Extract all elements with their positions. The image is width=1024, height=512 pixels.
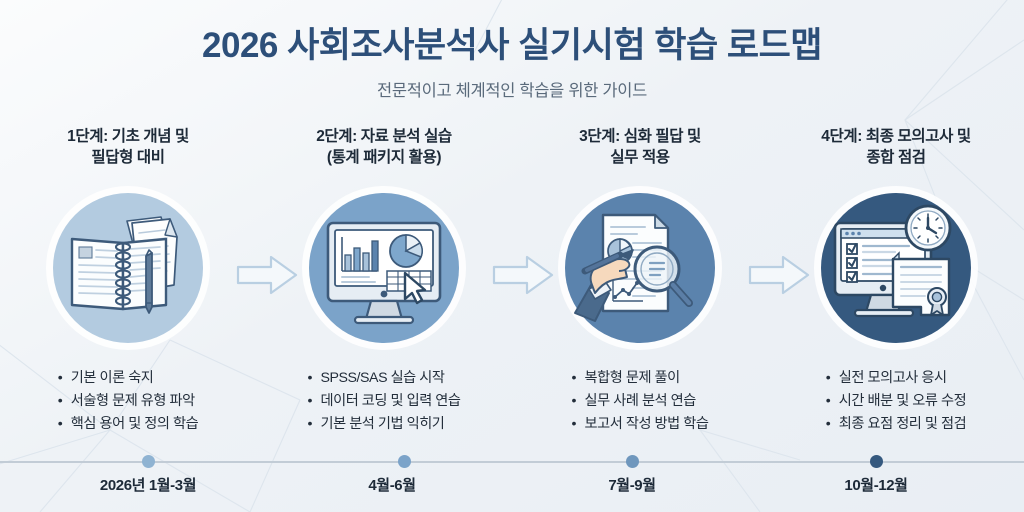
stage-3-bullet-2: 실무 사례 분석 연습 — [572, 390, 709, 413]
timeline-dot-3[interactable] — [626, 455, 639, 468]
monitor-checklist-clock-certificate-icon — [821, 193, 971, 343]
stage-4-bullets: 실전 모의고사 응시 시간 배분 및 오류 수정 최종 요점 정리 및 점검 — [826, 367, 966, 436]
stage-3-bullet-1: 복합형 문제 풀이 — [572, 367, 709, 390]
stage-1-bullet-3: 핵심 용어 및 정의 학습 — [58, 413, 198, 436]
stage-4-title-line2: 종합 점검 — [821, 148, 970, 169]
stage-3-title: 3단계: 심화 필답 및 실무 적용 — [579, 126, 701, 174]
arrow-stage-1-to-2 — [236, 252, 298, 298]
timeline-label-1: 2026년 1월-3월 — [38, 474, 258, 495]
stage-3-icon-circle[interactable] — [565, 193, 715, 343]
roadmap-poster: 2026 사회조사분석사 실기시험 학습 로드맵 전문적이고 체계적인 학습을 … — [0, 0, 1024, 512]
timeline-label-2: 4월-6월 — [282, 474, 502, 495]
stage-1-bullet-1: 기본 이론 숙지 — [58, 367, 198, 390]
stage-2-bullets: SPSS/SAS 실습 시작 데이터 코딩 및 입력 연습 기본 분석 기법 익… — [308, 367, 461, 436]
stage-3-title-line1: 3단계: 심화 필답 및 — [579, 127, 701, 148]
stage-4-icon-circle[interactable] — [821, 193, 971, 343]
timeline-dot-1[interactable] — [142, 455, 155, 468]
monitor-charts-icon — [309, 193, 459, 343]
stage-4-bullet-1: 실전 모의고사 응시 — [826, 367, 966, 390]
arrow-stage-2-to-3 — [492, 252, 554, 298]
timeline-dot-4[interactable] — [870, 455, 883, 468]
stage-3-bullet-3: 보고서 작성 방법 학습 — [572, 413, 709, 436]
hand-document-magnifier-icon — [565, 193, 715, 343]
stage-3-bullets: 복합형 문제 풀이 실무 사례 분석 연습 보고서 작성 방법 학습 — [572, 367, 709, 436]
header: 2026 사회조사분석사 실기시험 학습 로드맵 전문적이고 체계적인 학습을 … — [0, 26, 1024, 101]
stage-1-title: 1단계: 기초 개념 및 필답형 대비 — [67, 126, 189, 174]
stage-1-icon-circle[interactable] — [53, 193, 203, 343]
stage-1-bullet-2: 서술형 문제 유형 파악 — [58, 390, 198, 413]
page-subtitle: 전문적이고 체계적인 학습을 위한 가이드 — [0, 77, 1024, 101]
stage-1-bullets: 기본 이론 숙지 서술형 문제 유형 파악 핵심 용어 및 정의 학습 — [58, 367, 198, 436]
page-title: 2026 사회조사분석사 실기시험 학습 로드맵 — [0, 26, 1024, 66]
stage-1[interactable]: 1단계: 기초 개념 및 필답형 대비 — [0, 126, 256, 456]
timeline-dot-2[interactable] — [398, 455, 411, 468]
stage-4-title: 4단계: 최종 모의고사 및 종합 점검 — [821, 126, 970, 174]
stage-1-title-line2: 필답형 대비 — [67, 148, 189, 169]
stage-4-title-line1: 4단계: 최종 모의고사 및 — [821, 127, 970, 148]
stage-1-title-line1: 1단계: 기초 개념 및 — [67, 127, 189, 148]
arrow-stage-3-to-4 — [748, 252, 810, 298]
stage-2-title-line1: 2단계: 자료 분석 실습 — [316, 127, 452, 148]
stage-2-icon-circle[interactable] — [309, 193, 459, 343]
notebook-pencil-icon — [53, 193, 203, 343]
stage-4-bullet-2: 시간 배분 및 오류 수정 — [826, 390, 966, 413]
timeline-label-3: 7월-9월 — [522, 474, 742, 495]
stage-4-bullet-3: 최종 요점 정리 및 점검 — [826, 413, 966, 436]
stage-2-bullet-3: 기본 분석 기법 익히기 — [308, 413, 461, 436]
stage-2-title: 2단계: 자료 분석 실습 (통계 패키지 활용) — [316, 126, 452, 174]
stage-2-bullet-1: SPSS/SAS 실습 시작 — [308, 367, 461, 390]
stage-2-title-line2: (통계 패키지 활용) — [316, 148, 452, 169]
stage-2-bullet-2: 데이터 코딩 및 입력 연습 — [308, 390, 461, 413]
stage-3-title-line2: 실무 적용 — [579, 148, 701, 169]
timeline-label-4: 10월-12월 — [766, 474, 986, 495]
